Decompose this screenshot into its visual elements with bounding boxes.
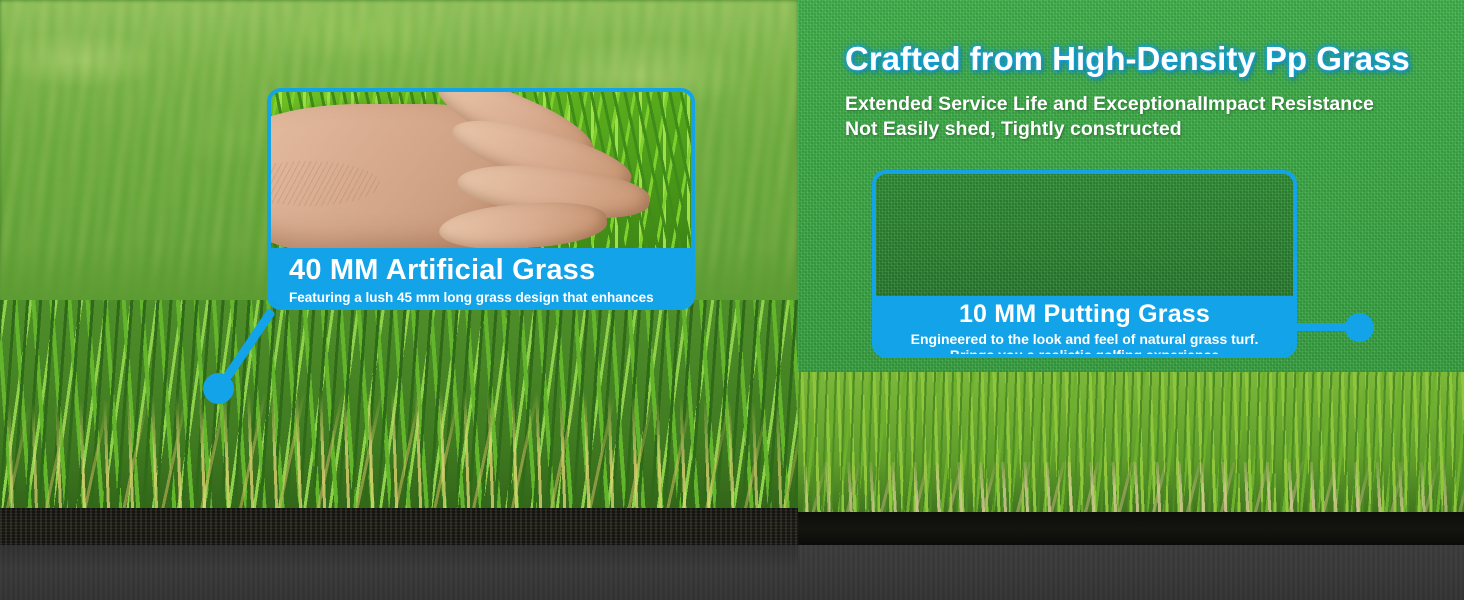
left-card-desc-line2: the realism of the simulation.	[289, 306, 691, 310]
turf-backing-right	[798, 512, 1464, 545]
card-photo-putting-green	[876, 174, 1293, 296]
right-card-desc-line2: Brings you a realistic golfing experienc…	[876, 347, 1293, 358]
floor-shadow	[0, 545, 798, 600]
turf-backing-left	[0, 508, 798, 550]
right-card-desc-line1: Engineered to the look and feel of natur…	[876, 331, 1293, 347]
right-leader-dot	[1345, 313, 1374, 342]
backing-grain-texture	[0, 508, 798, 550]
knuckle-texture	[271, 161, 380, 206]
sub-headline-line2: Not Easily shed, Tightly constructed	[845, 117, 1464, 142]
sub-headline: Extended Service Life and ExceptionalImp…	[845, 92, 1464, 142]
left-card-description: Featuring a lush 45 mm long grass design…	[289, 290, 691, 310]
main-headline: Crafted from High-Density Pp Grass	[845, 40, 1445, 78]
left-leader-dot	[203, 373, 234, 404]
product-infographic: 40 MM Artificial Grass Featuring a lush …	[0, 0, 1464, 600]
card-photo-hand-on-grass	[271, 92, 691, 248]
right-card-title: 10 MM Putting Grass	[876, 300, 1293, 329]
left-card-desc-line1: Featuring a lush 45 mm long grass design…	[289, 290, 691, 306]
callout-card-10mm[interactable]: 10 MM Putting Grass Engineered to the lo…	[872, 170, 1297, 358]
floor-surface	[0, 545, 1464, 600]
card-caption-10mm: 10 MM Putting Grass Engineered to the lo…	[876, 296, 1293, 358]
left-card-title: 40 MM Artificial Grass	[289, 254, 691, 287]
callout-card-40mm[interactable]: 40 MM Artificial Grass Featuring a lush …	[267, 88, 695, 310]
putting-green-texture	[876, 174, 1293, 296]
right-card-description: Engineered to the look and feel of natur…	[876, 331, 1293, 358]
card-caption-40mm: 40 MM Artificial Grass Featuring a lush …	[271, 248, 691, 310]
sub-headline-line1: Extended Service Life and ExceptionalImp…	[845, 92, 1464, 117]
